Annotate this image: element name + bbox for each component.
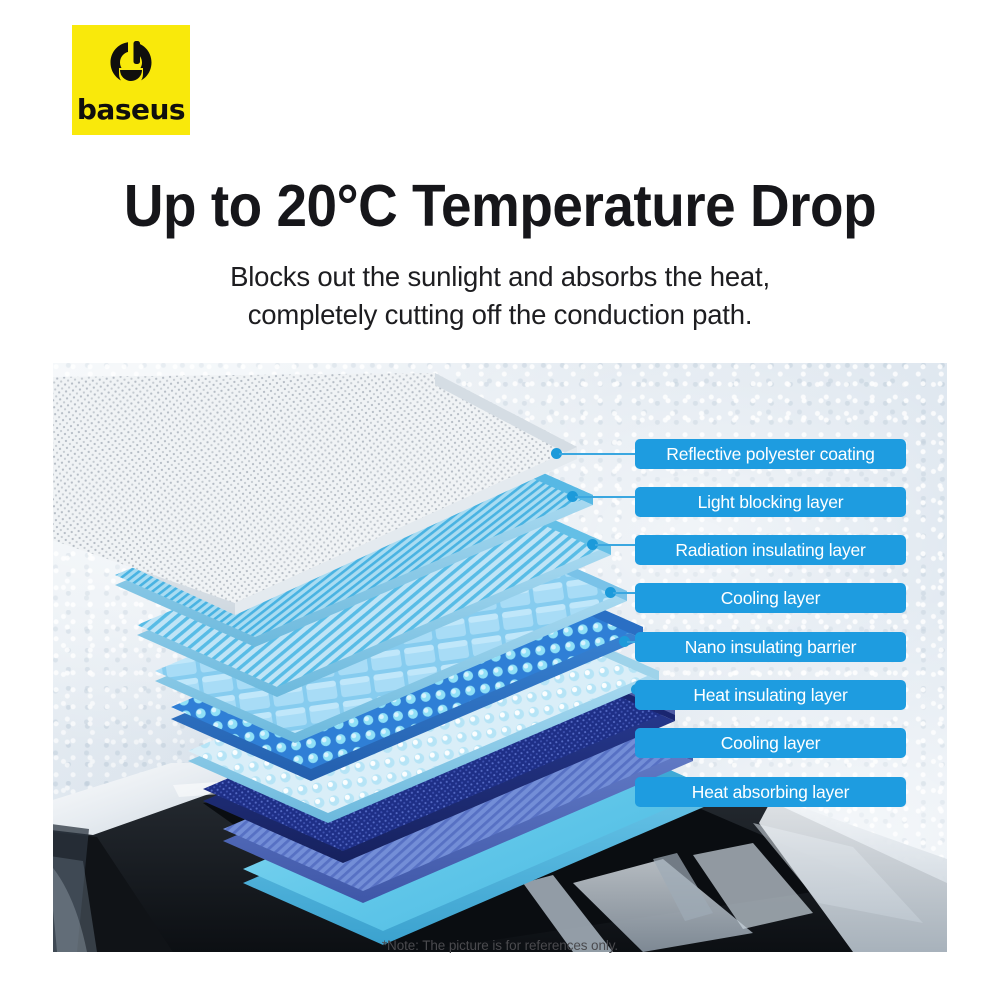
subtitle-line-2: completely cutting off the conduction pa… xyxy=(0,296,1000,334)
page-subtitle: Blocks out the sunlight and absorbs the … xyxy=(0,258,1000,334)
layer-diagram: Reflective polyester coating Light block… xyxy=(53,363,947,952)
label-reflective-polyester-coating[interactable]: Reflective polyester coating xyxy=(635,439,906,469)
brand-wordmark: baseus xyxy=(77,96,185,124)
label-nano-insulating-barrier[interactable]: Nano insulating barrier xyxy=(635,632,906,662)
label-light-blocking-layer[interactable]: Light blocking layer xyxy=(635,487,906,517)
page-title: Up to 20°C Temperature Drop xyxy=(35,172,965,240)
callout-line-1 xyxy=(559,453,641,455)
callout-group: Reflective polyester coating Light block… xyxy=(53,363,947,952)
label-heat-insulating-layer[interactable]: Heat insulating layer xyxy=(635,680,906,710)
footnote-text: *Note: The picture is for references onl… xyxy=(0,938,1000,953)
label-cooling-layer-upper[interactable]: Cooling layer xyxy=(635,583,906,613)
callout-line-2 xyxy=(575,496,641,498)
label-cooling-layer-lower[interactable]: Cooling layer xyxy=(635,728,906,758)
brand-logo: baseus xyxy=(72,25,190,135)
baseus-g-mark-icon xyxy=(106,39,156,89)
label-heat-absorbing-layer[interactable]: Heat absorbing layer xyxy=(635,777,906,807)
subtitle-line-1: Blocks out the sunlight and absorbs the … xyxy=(0,258,1000,296)
label-radiation-insulating-layer[interactable]: Radiation insulating layer xyxy=(635,535,906,565)
